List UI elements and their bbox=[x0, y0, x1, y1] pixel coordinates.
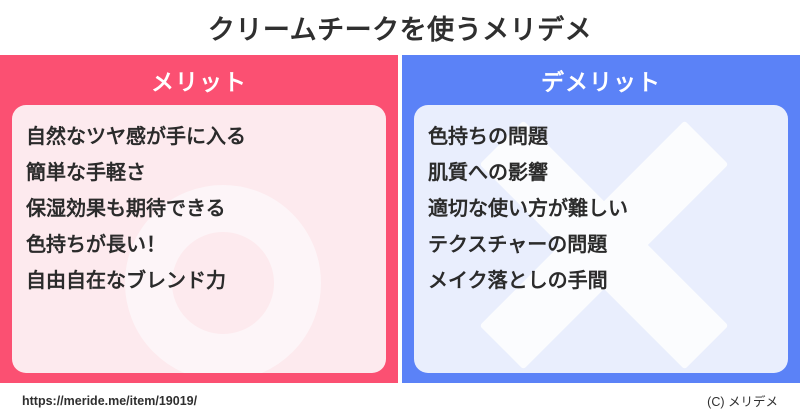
merit-panel: メリット 自然なツヤ感が手に入る 簡単な手軽さ 保湿効果も期待できる 色持ちが長… bbox=[0, 55, 398, 383]
demerit-card: 色持ちの問題 肌質への影響 適切な使い方が難しい テクスチャーの問題 メイク落と… bbox=[414, 105, 788, 373]
source-url[interactable]: https://meride.me/item/19019/ bbox=[22, 394, 197, 408]
demerit-heading: デメリット bbox=[541, 63, 661, 97]
merit-header: メリット bbox=[0, 55, 398, 105]
demerit-list: 色持ちの問題 肌質への影響 適切な使い方が難しい テクスチャーの問題 メイク落と… bbox=[414, 105, 788, 299]
comparison-panels: メリット 自然なツヤ感が手に入る 簡単な手軽さ 保湿効果も期待できる 色持ちが長… bbox=[0, 55, 800, 383]
copyright-notice: (C) メリデメ bbox=[707, 391, 778, 410]
demerit-header: デメリット bbox=[402, 55, 800, 105]
list-item: 保湿効果も期待できる bbox=[26, 191, 386, 227]
merit-list: 自然なツヤ感が手に入る 簡単な手軽さ 保湿効果も期待できる 色持ちが長い！ 自由… bbox=[12, 105, 386, 299]
merit-card: 自然なツヤ感が手に入る 簡単な手軽さ 保湿効果も期待できる 色持ちが長い！ 自由… bbox=[12, 105, 386, 373]
list-item: 簡単な手軽さ bbox=[26, 155, 386, 191]
list-item: 適切な使い方が難しい bbox=[428, 191, 788, 227]
footer-bar: https://meride.me/item/19019/ (C) メリデメ bbox=[0, 383, 800, 418]
list-item: 色持ちの問題 bbox=[428, 119, 788, 155]
list-item: 色持ちが長い！ bbox=[26, 227, 386, 263]
list-item: メイク落としの手間 bbox=[428, 263, 788, 299]
infographic-root: クリームチークを使うメリデメ メリット 自然なツヤ感が手に入る 簡単な手軽さ 保… bbox=[0, 0, 800, 418]
page-title: クリームチークを使うメリデメ bbox=[208, 8, 592, 47]
list-item: 肌質への影響 bbox=[428, 155, 788, 191]
demerit-panel: デメリット 色持ちの問題 肌質への影響 適切な使い方が難しい テクスチャーの問題… bbox=[402, 55, 800, 383]
merit-heading: メリット bbox=[151, 63, 247, 97]
list-item: テクスチャーの問題 bbox=[428, 227, 788, 263]
list-item: 自由自在なブレンド力 bbox=[26, 263, 386, 299]
title-bar: クリームチークを使うメリデメ bbox=[0, 0, 800, 55]
list-item: 自然なツヤ感が手に入る bbox=[26, 119, 386, 155]
